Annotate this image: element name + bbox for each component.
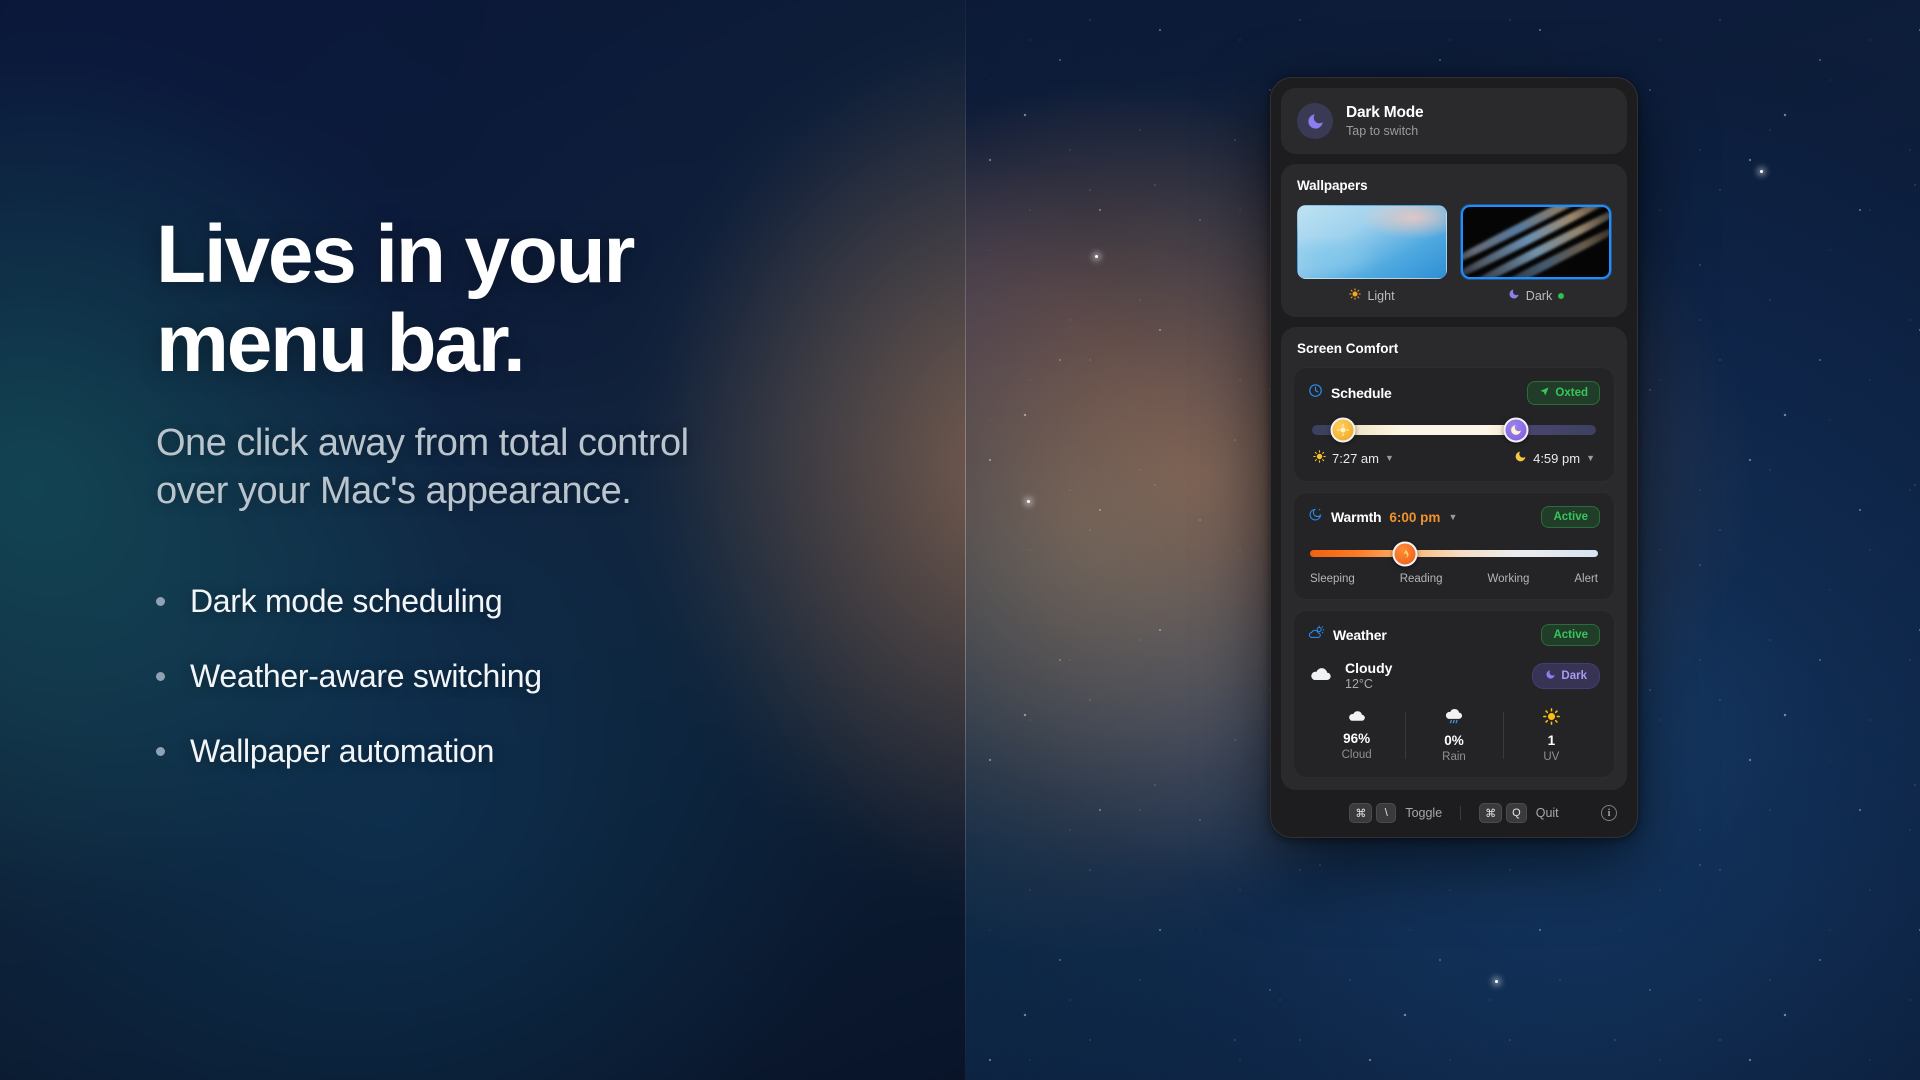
schedule-range-slider[interactable] xyxy=(1312,424,1596,436)
moon-icon xyxy=(1514,450,1527,466)
wallpapers-heading: Wallpapers xyxy=(1297,178,1611,193)
sunset-time-value: 4:59 pm xyxy=(1533,451,1580,466)
sunrise-time-selector[interactable]: 7:27 am ▼ xyxy=(1313,450,1394,466)
weather-stats: 96% Cloud xyxy=(1308,708,1600,763)
list-item: Weather-aware switching xyxy=(156,658,916,695)
feature-label: Dark mode scheduling xyxy=(190,583,502,620)
key-q: Q xyxy=(1506,803,1527,823)
feature-label: Wallpaper automation xyxy=(190,733,494,770)
weather-status-badge: Active xyxy=(1541,624,1600,646)
bright-star xyxy=(1027,500,1030,503)
moon-icon xyxy=(1545,669,1556,683)
page-subtitle: One click away from total control over y… xyxy=(156,419,916,516)
flame-icon[interactable] xyxy=(1393,541,1418,566)
chevron-down-icon[interactable]: ▼ xyxy=(1448,512,1457,522)
warmth-level-0: Sleeping xyxy=(1310,573,1355,585)
weather-stat-label: Rain xyxy=(1405,751,1502,763)
wallpaper-label-light: Light xyxy=(1367,289,1394,303)
warmth-level-2: Working xyxy=(1487,573,1529,585)
sunset-time-selector[interactable]: 4:59 pm ▼ xyxy=(1514,450,1595,466)
weather-mode-badge: Dark xyxy=(1532,663,1600,689)
warmth-status-badge: Active xyxy=(1541,506,1600,528)
key-backslash: \ xyxy=(1376,803,1396,823)
info-icon[interactable]: i xyxy=(1601,805,1617,821)
background-split-divider xyxy=(965,0,966,1080)
rain-cloud-icon xyxy=(1405,708,1502,727)
quit-shortcut-label: Quit xyxy=(1536,806,1559,820)
toggle-shortcut[interactable]: ⌘ \ Toggle xyxy=(1349,803,1442,823)
weather-stat-cloud: 96% Cloud xyxy=(1308,708,1405,763)
weather-stat-label: UV xyxy=(1503,751,1600,763)
bright-star xyxy=(1760,170,1763,173)
sunset-slider-thumb[interactable] xyxy=(1504,418,1529,443)
weather-condition: Cloudy xyxy=(1345,660,1392,676)
list-item: Dark mode scheduling xyxy=(156,583,916,620)
list-item: Wallpaper automation xyxy=(156,733,916,770)
warmth-slider-track xyxy=(1310,550,1598,557)
sun-icon xyxy=(1349,288,1361,303)
screenshot-stage: Lives in your menu bar. One click away f… xyxy=(0,0,1920,1080)
bullet-dot-icon xyxy=(156,747,165,756)
moon-icon xyxy=(1508,288,1520,303)
weather-mode-label: Dark xyxy=(1561,670,1587,682)
sun-cloud-icon xyxy=(1308,625,1325,645)
dark-mode-toggle-card[interactable]: Dark Mode Tap to switch xyxy=(1281,88,1627,154)
warmth-time-value: 6:00 pm xyxy=(1389,510,1440,525)
bullet-dot-icon xyxy=(156,672,165,681)
schedule-section: Schedule Oxted xyxy=(1293,367,1615,482)
panel-footer: ⌘ \ Toggle ⌘ Q Quit i xyxy=(1281,790,1627,837)
cloud-icon xyxy=(1308,664,1334,688)
key-command: ⌘ xyxy=(1479,803,1502,823)
chevron-down-icon: ▼ xyxy=(1385,453,1394,463)
wallpaper-label-dark: Dark xyxy=(1526,289,1552,303)
active-indicator-dot xyxy=(1558,293,1564,299)
dark-mode-subtitle: Tap to switch xyxy=(1346,124,1423,138)
subhead-line-2: over your Mac's appearance. xyxy=(156,470,631,512)
bullet-dot-icon xyxy=(156,597,165,606)
moon-icon xyxy=(1297,103,1333,139)
location-arrow-icon xyxy=(1539,386,1550,400)
menubar-popover-panel: Dark Mode Tap to switch Wallpapers xyxy=(1270,77,1638,838)
weather-stat-uv: 1 UV xyxy=(1503,708,1600,763)
location-badge-label: Oxted xyxy=(1555,387,1588,399)
weather-label: Weather xyxy=(1333,627,1387,643)
clock-icon xyxy=(1308,383,1323,403)
warmth-section: Warmth 6:00 pm ▼ Active xyxy=(1293,492,1615,600)
sunrise-time-value: 7:27 am xyxy=(1332,451,1379,466)
marketing-copy: Lives in your menu bar. One click away f… xyxy=(156,210,916,770)
wallpaper-option-light[interactable]: Light xyxy=(1297,205,1447,303)
toggle-shortcut-label: Toggle xyxy=(1405,806,1442,820)
warmth-level-3: Alert xyxy=(1574,573,1598,585)
weather-stat-value: 0% xyxy=(1405,733,1502,748)
wallpaper-thumbnail-dark[interactable] xyxy=(1461,205,1611,279)
weather-stat-label: Cloud xyxy=(1308,749,1405,761)
warmth-label: Warmth xyxy=(1331,509,1381,525)
warmth-level-labels: Sleeping Reading Working Alert xyxy=(1310,573,1598,585)
footer-divider xyxy=(1460,806,1461,820)
headline-line-1: Lives in your xyxy=(156,209,633,300)
weather-status-label: Active xyxy=(1553,629,1588,641)
sunrise-slider-thumb[interactable] xyxy=(1331,418,1356,443)
wallpapers-card: Wallpapers Light xyxy=(1281,164,1627,317)
screen-comfort-heading: Screen Comfort xyxy=(1297,341,1611,356)
schedule-label: Schedule xyxy=(1331,385,1392,401)
wallpaper-option-dark[interactable]: Dark xyxy=(1461,205,1611,303)
quit-shortcut[interactable]: ⌘ Q Quit xyxy=(1479,803,1559,823)
dark-mode-title: Dark Mode xyxy=(1346,104,1423,122)
wallpaper-thumbnail-light[interactable] xyxy=(1297,205,1447,279)
warmth-level-1: Reading xyxy=(1400,573,1443,585)
bright-star xyxy=(1095,255,1098,258)
headline-line-2: menu bar. xyxy=(156,298,524,389)
weather-temperature: 12°C xyxy=(1345,677,1392,691)
weather-stat-value: 96% xyxy=(1308,731,1405,746)
weather-stat-rain: 0% Rain xyxy=(1405,708,1502,763)
location-badge[interactable]: Oxted xyxy=(1527,381,1600,405)
weather-section: Weather Active Cloudy xyxy=(1293,610,1615,778)
screen-comfort-card: Screen Comfort Schedule xyxy=(1281,327,1627,790)
sun-icon xyxy=(1503,708,1600,727)
subhead-line-1: One click away from total control xyxy=(156,422,689,464)
moon-stars-icon xyxy=(1308,507,1323,527)
warmth-status-label: Active xyxy=(1553,511,1588,523)
feature-label: Weather-aware switching xyxy=(190,658,542,695)
feature-list: Dark mode scheduling Weather-aware switc… xyxy=(156,583,916,770)
weather-stat-value: 1 xyxy=(1503,733,1600,748)
sun-icon xyxy=(1313,450,1326,466)
warmth-slider[interactable] xyxy=(1310,548,1598,559)
cloud-icon xyxy=(1308,708,1405,725)
page-title: Lives in your menu bar. xyxy=(156,210,916,389)
chevron-down-icon: ▼ xyxy=(1586,453,1595,463)
key-command: ⌘ xyxy=(1349,803,1372,823)
bright-star xyxy=(1495,980,1498,983)
